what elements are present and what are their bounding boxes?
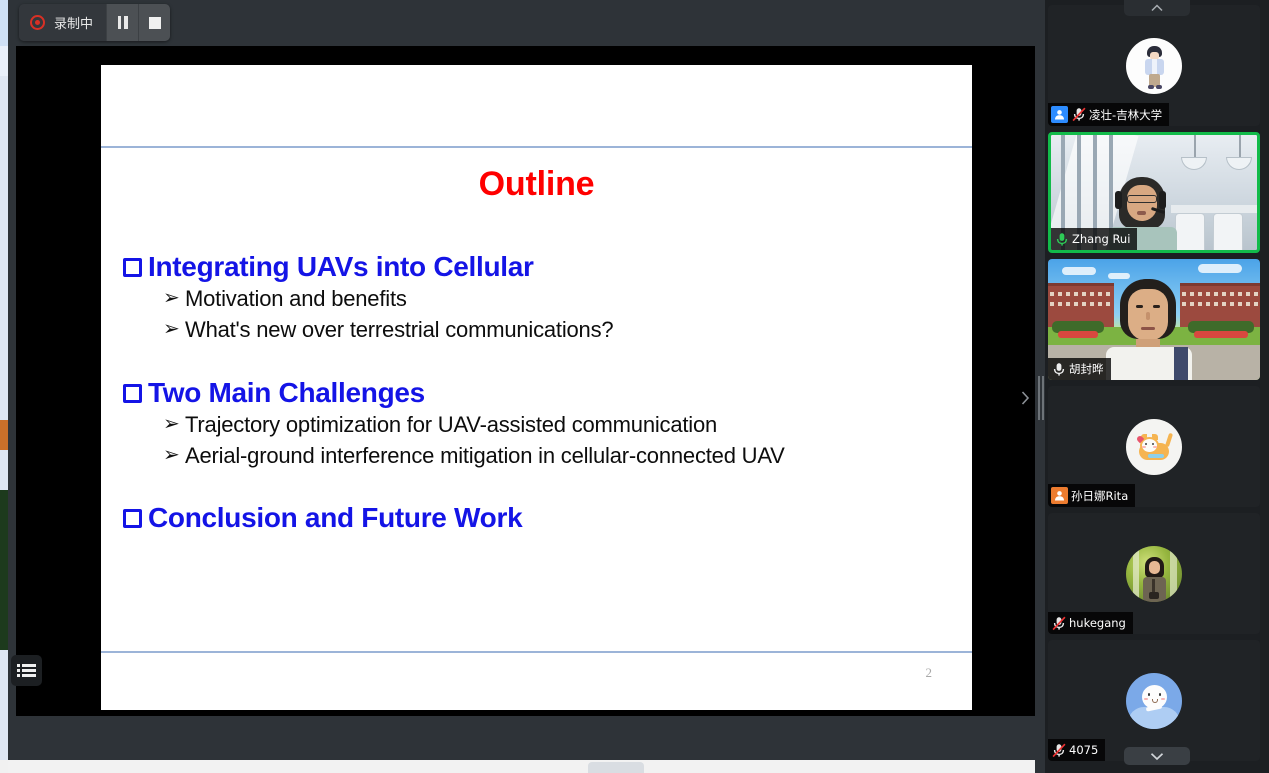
- mic-active-icon: [1054, 231, 1069, 247]
- participant-tile[interactable]: 4075: [1048, 640, 1260, 761]
- collapse-panel-button[interactable]: [1017, 380, 1033, 416]
- sliver-band: [0, 420, 8, 450]
- slide-top-rule: [101, 146, 972, 148]
- participant-tiles: 凌壮-吉林大学: [1045, 5, 1269, 767]
- list-view-icon: [17, 662, 36, 679]
- slide-heading: Conclusion and Future Work: [123, 501, 968, 534]
- mic-muted-icon: [1051, 615, 1066, 631]
- slide-heading: Two Main Challenges: [123, 376, 968, 409]
- participant-avatar-badge-icon: [1051, 487, 1068, 504]
- sliver-band: [0, 0, 8, 46]
- participant-name: 4075: [1069, 743, 1098, 757]
- recording-controls: 录制中: [19, 4, 170, 41]
- participant-name: 孙日娜Rita: [1071, 488, 1128, 504]
- sliver-band: [0, 46, 8, 76]
- participant-filmstrip: 凌壮-吉林大学: [1045, 0, 1269, 773]
- avatar-image: [1126, 546, 1182, 602]
- slide-section: Conclusion and Future Work: [123, 501, 968, 534]
- bottom-toolbar-strip: [16, 716, 1048, 760]
- participant-name: Zhang Rui: [1072, 232, 1130, 246]
- list-view-button[interactable]: [11, 655, 42, 686]
- grip-line: [1038, 376, 1040, 420]
- participant-name-bar: 孙日娜Rita: [1048, 484, 1135, 507]
- square-bullet-icon: [123, 258, 142, 277]
- slide-title: Outline: [101, 165, 972, 204]
- mic-muted-icon: [1071, 107, 1086, 123]
- avatar-image: [1126, 419, 1182, 475]
- sliver-band: [0, 490, 8, 650]
- participant-tile[interactable]: hukegang: [1048, 513, 1260, 634]
- participant-name: 胡封晔: [1069, 361, 1104, 377]
- participant-tile[interactable]: 凌壮-吉林大学: [1048, 5, 1260, 126]
- scroll-down-button[interactable]: [1124, 747, 1190, 765]
- chevron-up-icon: [1151, 4, 1163, 12]
- slide-bottom-rule: [101, 651, 972, 653]
- recording-status: 录制中: [19, 4, 106, 41]
- record-dot-icon: [30, 15, 45, 30]
- grip-line: [1042, 376, 1044, 420]
- participant-name: 凌壮-吉林大学: [1089, 107, 1162, 123]
- slide-body: Integrating UAVs into Cellular ➢ Motivat…: [123, 250, 968, 538]
- arrow-bullet-icon: ➢: [163, 409, 185, 439]
- mic-muted-icon: [1051, 742, 1066, 758]
- chevron-down-icon: [1150, 752, 1164, 761]
- presentation-slide: Outline Integrating UAVs into Cellular ➢…: [101, 65, 972, 710]
- mic-unmuted-icon: [1051, 361, 1066, 377]
- meeting-window: Outline Integrating UAVs into Cellular ➢…: [8, 0, 1040, 773]
- slide-subbullet: ➢ What's new over terrestrial communicat…: [123, 314, 968, 345]
- arrow-bullet-icon: ➢: [163, 314, 185, 344]
- participant-name-bar: Zhang Rui: [1051, 228, 1137, 250]
- spacer: [123, 350, 968, 376]
- pause-icon: [124, 16, 128, 29]
- stop-recording-button[interactable]: [138, 4, 170, 41]
- participant-name-bar: 4075: [1048, 739, 1105, 761]
- pause-recording-button[interactable]: [106, 4, 138, 41]
- slide-page-number: 2: [926, 665, 933, 681]
- participant-tile[interactable]: 胡封晔: [1048, 259, 1260, 380]
- participant-name-bar: 胡封晔: [1048, 358, 1111, 380]
- recording-label: 录制中: [54, 13, 93, 32]
- arrow-bullet-icon: ➢: [163, 440, 185, 470]
- taskbar-item[interactable]: [588, 762, 644, 773]
- square-bullet-icon: [123, 384, 142, 403]
- slide-subbullet: ➢ Motivation and benefits: [123, 283, 968, 314]
- scroll-up-button[interactable]: [1124, 0, 1190, 16]
- square-bullet-icon: [123, 509, 142, 528]
- participant-name-bar: hukegang: [1048, 612, 1133, 634]
- screen-share-stage: Outline Integrating UAVs into Cellular ➢…: [16, 46, 1045, 716]
- slide-subbullet: ➢ Aerial-ground interference mitigation …: [123, 440, 968, 471]
- sliver-band: [0, 760, 8, 773]
- participant-tile[interactable]: 孙日娜Rita: [1048, 386, 1260, 507]
- arrow-bullet-icon: ➢: [163, 283, 185, 313]
- panel-resize-handle[interactable]: [1035, 0, 1045, 773]
- background-window-sliver: [0, 0, 8, 773]
- participant-avatar-badge-icon: [1051, 106, 1068, 123]
- participant-name: hukegang: [1069, 616, 1126, 630]
- pause-icon: [118, 16, 122, 29]
- slide-heading: Integrating UAVs into Cellular: [123, 250, 968, 283]
- avatar-image: [1126, 673, 1182, 729]
- spacer: [123, 475, 968, 501]
- avatar-image: [1126, 38, 1182, 94]
- stop-icon: [149, 17, 161, 29]
- slide-section: Two Main Challenges ➢ Trajectory optimiz…: [123, 376, 968, 472]
- participant-tile[interactable]: Zhang Rui: [1048, 132, 1260, 253]
- slide-section: Integrating UAVs into Cellular ➢ Motivat…: [123, 250, 968, 346]
- participant-name-bar: 凌壮-吉林大学: [1048, 103, 1169, 126]
- chevron-right-icon: [1021, 391, 1030, 405]
- slide-subbullet: ➢ Trajectory optimization for UAV-assist…: [123, 409, 968, 440]
